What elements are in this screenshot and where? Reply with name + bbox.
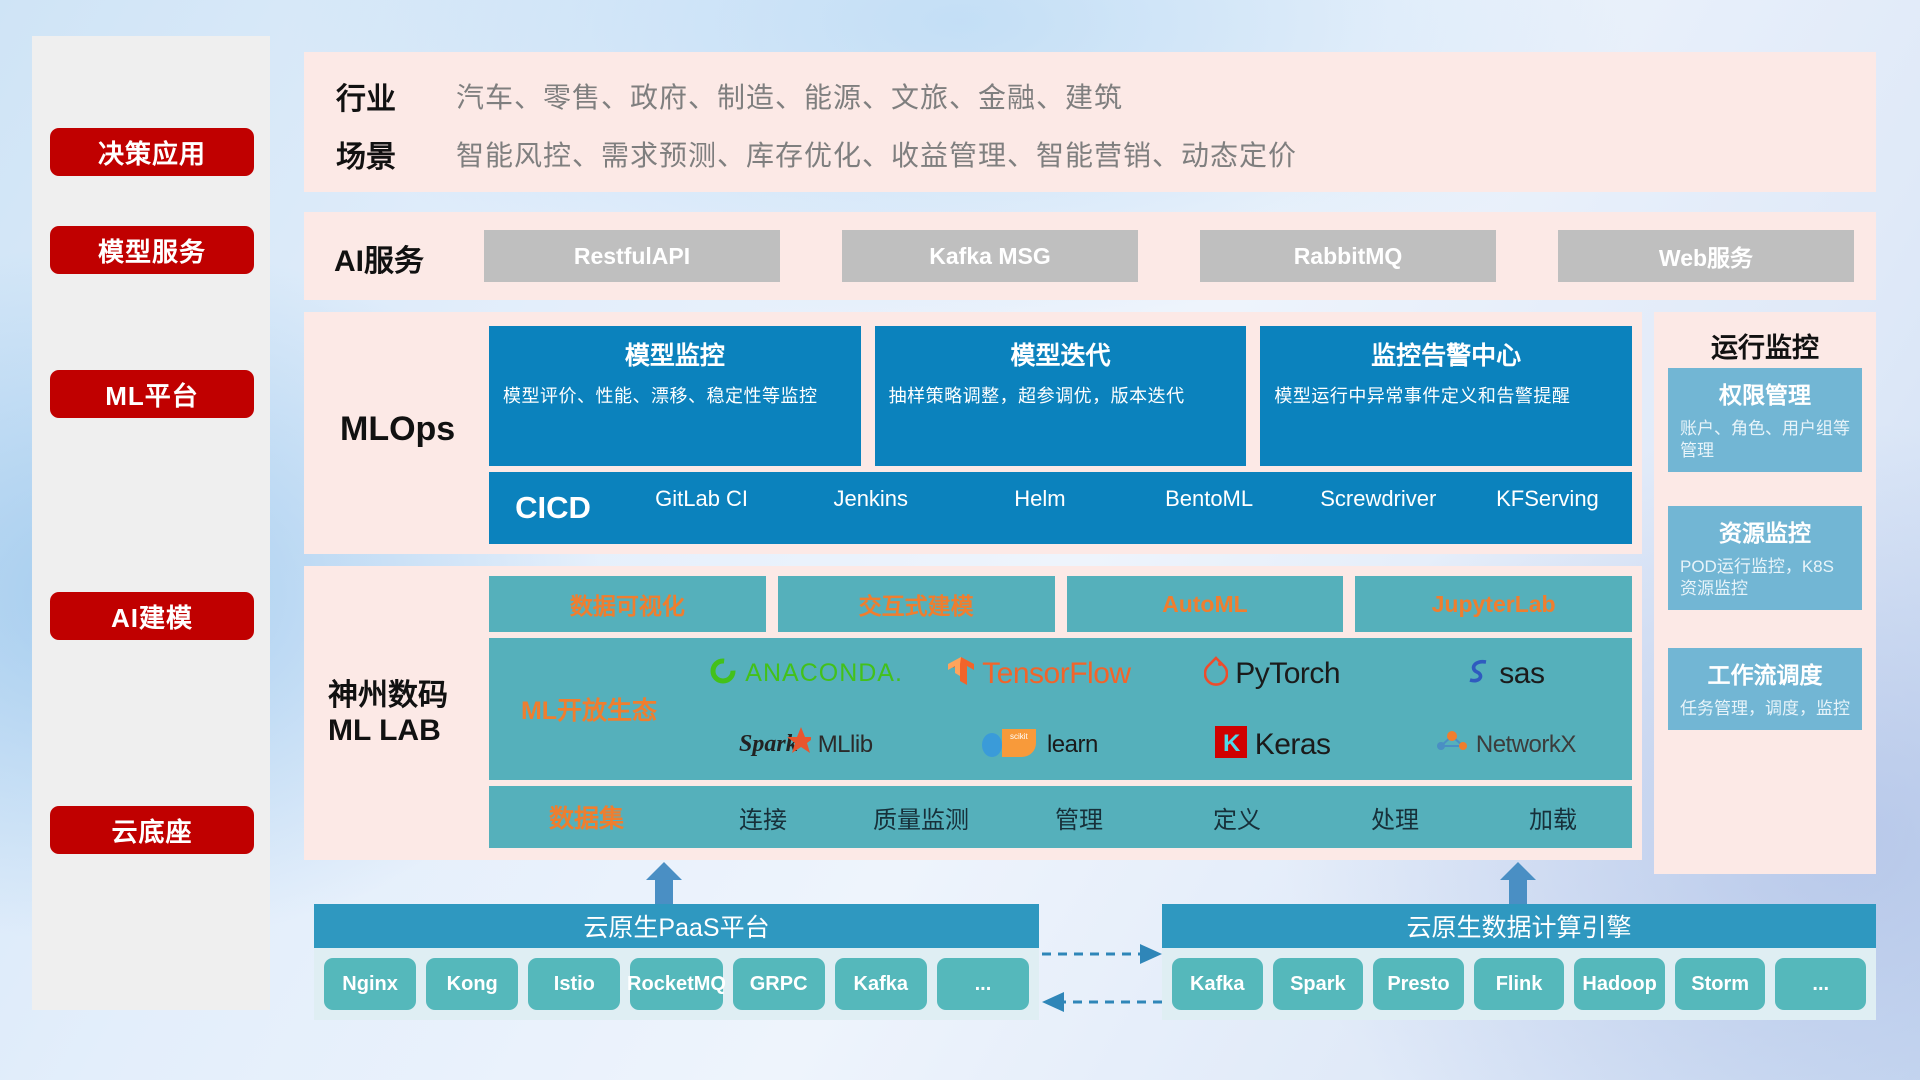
anaconda-logo-glyph <box>708 656 738 691</box>
monitor-card-title: 资源监控 <box>1680 514 1850 548</box>
scene-label: 场景 <box>336 132 456 176</box>
scikit-learn-logo: scikitlearn <box>980 725 1098 764</box>
cicd-item[interactable]: Jenkins <box>786 486 955 510</box>
rail-chip-2[interactable]: 模型服务 <box>50 226 254 274</box>
ml-lab-tool[interactable]: JupyterLab <box>1355 576 1632 632</box>
scene-row: 场景 智能风控、需求预测、库存优化、收益管理、智能营销、动态定价 <box>336 132 1297 176</box>
monitor-card-desc: 任务管理，调度，监控 <box>1680 698 1850 720</box>
keras-logo-text: Keras <box>1255 730 1331 760</box>
ml-lab-tool[interactable]: 数据可视化 <box>489 576 766 632</box>
paas-item-group: NginxKongIstioRocketMQGRPCKafka... <box>314 948 1039 1020</box>
dataset-item[interactable]: 处理 <box>1316 800 1474 835</box>
ml-lab-tool[interactable]: AutoML <box>1067 576 1344 632</box>
ai-service-button[interactable]: RabbitMQ <box>1200 230 1496 282</box>
monitor-card-title: 权限管理 <box>1680 376 1850 410</box>
ai-service-buttons: RestfulAPIKafka MSGRabbitMQWeb服务 <box>484 230 1854 282</box>
ml-logo-grid: ANACONDA.TensorFlowPyTorchsasSparkMLlibs… <box>689 638 1632 780</box>
networkx-logo-text: NetworkX <box>1476 733 1576 757</box>
cloud-component-button[interactable]: Spark <box>1273 958 1364 1010</box>
paas-up-arrow-icon <box>642 860 686 900</box>
cloud-component-button[interactable]: Istio <box>528 958 620 1010</box>
svg-text:scikit: scikit <box>1010 732 1029 741</box>
ai-service-button[interactable]: Kafka MSG <box>842 230 1138 282</box>
dataset-bar: 数据集 连接质量监测管理定义处理加载 <box>489 786 1632 848</box>
dataset-item-group: 连接质量监测管理定义处理加载 <box>684 800 1632 835</box>
cloud-component-button[interactable]: Presto <box>1373 958 1464 1010</box>
industry-row: 行业 汽车、零售、政府、制造、能源、文旅、金融、建筑 <box>336 74 1123 118</box>
tensorflow-logo: TensorFlow <box>947 656 1130 691</box>
cloud-component-button[interactable]: Kafka <box>835 958 927 1010</box>
sas-logo: sas <box>1466 657 1544 690</box>
tensorflow-logo-text: TensorFlow <box>982 659 1130 689</box>
paas-cloud-box: 云原生PaaS平台 NginxKongIstioRocketMQGRPCKafk… <box>314 904 1039 1020</box>
ml-lab-panel: 神州数码 ML LAB 数据可视化交互式建模AutoMLJupyterLab M… <box>304 566 1642 860</box>
anaconda-logo: ANACONDA. <box>708 656 903 691</box>
cloud-component-button[interactable]: RocketMQ <box>630 958 722 1010</box>
pytorch-logo-text: PyTorch <box>1235 659 1340 689</box>
mlops-card[interactable]: 模型迭代抽样策略调整，超参调优，版本迭代 <box>875 326 1247 466</box>
scikit-learn-logo-glyph: scikit <box>980 725 1040 764</box>
networkx-logo: NetworkX <box>1435 726 1576 763</box>
dataset-item[interactable]: 定义 <box>1158 800 1316 835</box>
cloud-component-button[interactable]: Kafka <box>1172 958 1263 1010</box>
dataset-item[interactable]: 加载 <box>1474 800 1632 835</box>
cloud-component-button[interactable]: Flink <box>1474 958 1565 1010</box>
cloud-component-button[interactable]: ... <box>1775 958 1866 1010</box>
svg-text:Spark: Spark <box>739 731 798 757</box>
cloud-component-button[interactable]: Nginx <box>324 958 416 1010</box>
industry-label: 行业 <box>336 74 456 118</box>
monitor-card-title: 工作流调度 <box>1680 656 1850 690</box>
cicd-title: CICD <box>489 490 617 526</box>
mlops-card-title: 监控告警中心 <box>1274 336 1618 372</box>
data-engine-title: 云原生数据计算引擎 <box>1162 904 1876 948</box>
cloud-component-button[interactable]: Kong <box>426 958 518 1010</box>
mlops-card-title: 模型监控 <box>503 336 847 372</box>
mlops-card-desc: 模型运行中异常事件定义和告警提醒 <box>1274 384 1618 408</box>
svg-text:K: K <box>1223 730 1241 757</box>
paas-title: 云原生PaaS平台 <box>314 904 1039 948</box>
rail-chip-1[interactable]: 决策应用 <box>50 128 254 176</box>
ml-lab-tool[interactable]: 交互式建模 <box>778 576 1055 632</box>
monitor-card-desc: POD运行监控，K8S资源监控 <box>1680 556 1850 600</box>
dataset-title: 数据集 <box>489 799 684 835</box>
ai-service-label: AI服务 <box>334 236 424 280</box>
cicd-bar: CICD GitLab CIJenkinsHelmBentoMLScrewdri… <box>489 472 1632 544</box>
data-engine-cloud-box: 云原生数据计算引擎 KafkaSparkPrestoFlinkHadoopSto… <box>1162 904 1876 1020</box>
ml-lab-label-line2: ML LAB <box>328 713 478 748</box>
networkx-logo-glyph <box>1435 726 1469 763</box>
left-rail: 决策应用模型服务ML平台AI建模云底座 <box>32 36 270 1010</box>
cicd-item-group: GitLab CIJenkinsHelmBentoMLScrewdriverKF… <box>617 472 1632 544</box>
monitor-card[interactable]: 工作流调度任务管理，调度，监控 <box>1668 648 1862 730</box>
rail-chip-4[interactable]: AI建模 <box>50 592 254 640</box>
keras-logo-glyph: K <box>1214 725 1248 764</box>
sas-logo-text: sas <box>1499 659 1544 689</box>
tensorflow-logo-glyph <box>947 656 975 691</box>
dataset-item[interactable]: 管理 <box>1000 800 1158 835</box>
cloud-component-button[interactable]: GRPC <box>733 958 825 1010</box>
dataset-item[interactable]: 质量监测 <box>842 800 1000 835</box>
mlops-card-desc: 模型评价、性能、漂移、稳定性等监控 <box>503 384 847 408</box>
data-engine-item-group: KafkaSparkPrestoFlinkHadoopStorm... <box>1162 948 1876 1020</box>
spark-mllib-logo: SparkMLlib <box>739 725 873 764</box>
keras-logo: KKeras <box>1214 725 1331 764</box>
cloud-component-button[interactable]: Hadoop <box>1574 958 1665 1010</box>
runtime-monitor-title: 运行监控 <box>1654 326 1876 365</box>
sas-logo-glyph <box>1466 657 1492 690</box>
diagram-stage: 决策应用模型服务ML平台AI建模云底座 行业 汽车、零售、政府、制造、能源、文旅… <box>0 0 1920 1080</box>
pytorch-logo-glyph <box>1204 656 1228 691</box>
ai-service-panel: AI服务 RestfulAPIKafka MSGRabbitMQWeb服务 <box>304 212 1876 300</box>
mlops-card-group: 模型监控模型评价、性能、漂移、稳定性等监控模型迭代抽样策略调整，超参调优，版本迭… <box>489 326 1632 466</box>
ml-lab-label: 神州数码 ML LAB <box>328 678 478 749</box>
ai-service-button[interactable]: Web服务 <box>1558 230 1854 282</box>
mlops-card[interactable]: 模型监控模型评价、性能、漂移、稳定性等监控 <box>489 326 861 466</box>
cicd-item[interactable]: Helm <box>955 486 1124 510</box>
rail-chip-5[interactable]: 云底座 <box>50 806 254 854</box>
industry-values: 汽车、零售、政府、制造、能源、文旅、金融、建筑 <box>456 76 1123 116</box>
ai-service-button[interactable]: RestfulAPI <box>484 230 780 282</box>
anaconda-logo-text: ANACONDA. <box>745 661 903 686</box>
data-engine-up-arrow-icon <box>1496 860 1540 900</box>
cicd-item[interactable]: Screwdriver <box>1294 486 1463 510</box>
mlops-card[interactable]: 监控告警中心模型运行中异常事件定义和告警提醒 <box>1260 326 1632 466</box>
ml-lab-tool-group: 数据可视化交互式建模AutoMLJupyterLab <box>489 576 1632 632</box>
scene-values: 智能风控、需求预测、库存优化、收益管理、智能营销、动态定价 <box>456 134 1297 174</box>
scikit-learn-logo-text: learn <box>1047 733 1098 757</box>
cloud-component-button[interactable]: Storm <box>1675 958 1766 1010</box>
dataset-item[interactable]: 连接 <box>684 800 842 835</box>
cloud-component-button[interactable]: ... <box>937 958 1029 1010</box>
spark-mllib-logo-text: MLlib <box>818 733 873 757</box>
ml-ecosystem-title: ML开放生态 <box>489 691 689 727</box>
monitor-card[interactable]: 资源监控POD运行监控，K8S资源监控 <box>1668 506 1862 610</box>
mlops-card-title: 模型迭代 <box>889 336 1233 372</box>
pytorch-logo: PyTorch <box>1204 656 1340 691</box>
rail-chip-3[interactable]: ML平台 <box>50 370 254 418</box>
spark-mllib-logo-glyph: Spark <box>739 725 811 764</box>
mlops-panel: MLOps 模型监控模型评价、性能、漂移、稳定性等监控模型迭代抽样策略调整，超参… <box>304 312 1642 554</box>
cicd-item[interactable]: GitLab CI <box>617 486 786 510</box>
cicd-item[interactable]: BentoML <box>1125 486 1294 510</box>
mlops-card-desc: 抽样策略调整，超参调优，版本迭代 <box>889 384 1233 408</box>
ml-lab-label-line1: 神州数码 <box>328 678 478 713</box>
mlops-label: MLOps <box>340 410 455 449</box>
monitor-card[interactable]: 权限管理账户、角色、用户组等管理 <box>1668 368 1862 472</box>
ml-ecosystem-bar: ML开放生态 ANACONDA.TensorFlowPyTorchsasSpar… <box>489 638 1632 780</box>
runtime-monitor-panel: 运行监控 权限管理账户、角色、用户组等管理资源监控POD运行监控，K8S资源监控… <box>1654 312 1876 874</box>
cicd-item[interactable]: KFServing <box>1463 486 1632 510</box>
monitor-card-desc: 账户、角色、用户组等管理 <box>1680 418 1850 462</box>
industry-scene-panel: 行业 汽车、零售、政府、制造、能源、文旅、金融、建筑 场景 智能风控、需求预测、… <box>304 52 1876 192</box>
bidirectional-link-arrows <box>1040 940 1160 1010</box>
